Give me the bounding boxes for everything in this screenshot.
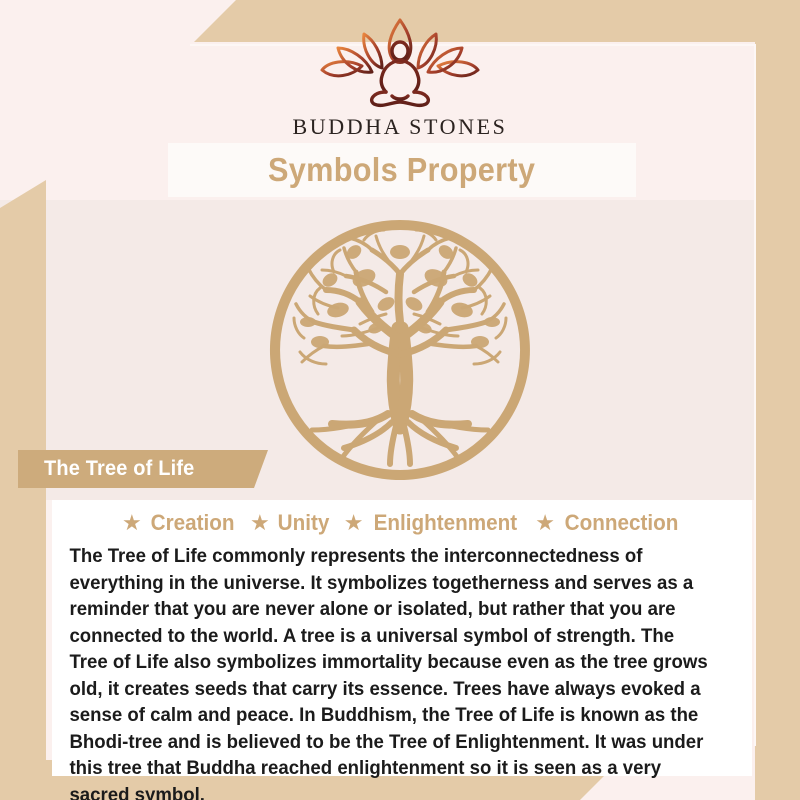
keyword-item-unity: ★ Unity [250,510,331,536]
decorative-band-right [755,42,800,800]
keyword-label: Unity [277,510,329,536]
decorative-hairline-right [754,46,756,746]
keyword-item-creation: ★ Creation [122,510,237,536]
keyword-label: Enlightenment [374,510,518,536]
brand-logo: BUDDHA STONES [0,14,800,140]
star-icon: ★ [344,512,364,534]
keyword-label: Connection [565,510,679,536]
content-card: ★ Creation ★ Unity ★ Enlightenment ★ Con… [52,500,752,776]
decorative-band-left [0,180,46,800]
keyword-item-enlightenment: ★ Enlightenment [344,510,523,536]
brand-name: BUDDHA STONES [293,114,508,140]
lotus-meditation-icon [312,14,488,110]
section-ribbon: The Tree of Life [18,450,268,488]
star-icon: ★ [122,512,142,534]
page-title-plate: Symbols Property [168,143,636,197]
tree-of-life-emblem [268,218,532,482]
star-icon: ★ [250,512,270,534]
page-title: Symbols Property [268,151,535,189]
keyword-list: ★ Creation ★ Unity ★ Enlightenment ★ Con… [52,500,752,536]
symbols-property-poster: BUDDHA STONES Symbols Property [0,0,800,800]
keyword-label: Creation [150,510,234,536]
section-ribbon-label: The Tree of Life [44,457,194,481]
tree-of-life-icon [268,218,532,482]
keyword-item-connection: ★ Connection [535,510,682,536]
star-icon: ★ [535,512,555,534]
body-paragraph: The Tree of Life commonly represents the… [52,536,731,800]
